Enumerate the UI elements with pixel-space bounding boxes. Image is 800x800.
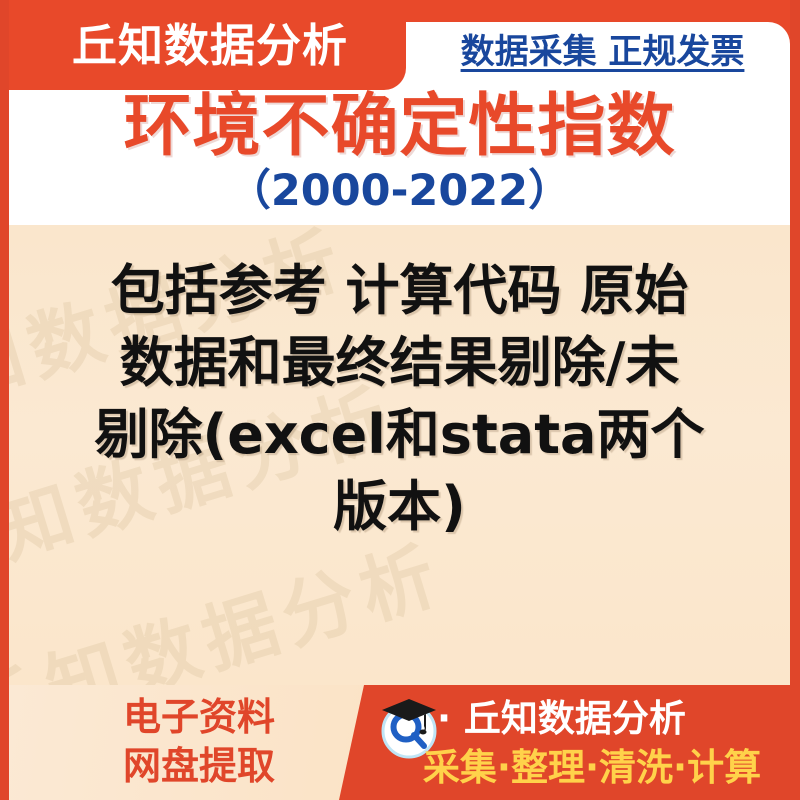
frame-border-left bbox=[0, 0, 9, 800]
description-text: 包括参考 计算代码 原始 数据和最终结果剔除/未 剔除(excel和stata两… bbox=[9, 255, 790, 543]
page-title: 环境不确定性指数 bbox=[9, 90, 790, 163]
poster-canvas: 丘知数据分析 数据采集 正规发票 环境不确定性指数 （2000-2022） 丘知… bbox=[0, 0, 800, 800]
description-line: 数据和最终结果剔除/未 bbox=[23, 327, 776, 399]
brand-tab-label: 丘知数据分析 bbox=[58, 23, 348, 68]
description-line: 剔除(excel和stata两个 bbox=[23, 399, 776, 471]
delivery-info: 电子资料 网盘提取 bbox=[49, 693, 349, 791]
description-line: 包括参考 计算代码 原始 bbox=[23, 255, 776, 327]
header-services-label: 数据采集 正规发票 bbox=[420, 34, 785, 71]
page-subtitle-year-range: （2000-2022） bbox=[9, 168, 790, 215]
footer-band: 电子资料 网盘提取 · 丘知数据分析 采集·整理·清洗·计算 bbox=[9, 685, 790, 800]
footer-tagline: 采集·整理·清洗·计算 bbox=[394, 748, 790, 789]
frame-border-right bbox=[790, 0, 800, 800]
delivery-line-1: 电子资料 bbox=[49, 693, 349, 742]
brand-tab[interactable]: 丘知数据分析 bbox=[0, 0, 406, 90]
description-line: 版本) bbox=[23, 471, 776, 543]
description-panel: 丘知数据分析 丘知数据分析 丘知数据分析 丘知数据分析 包括参考 计算代码 原始… bbox=[9, 225, 790, 685]
footer-brand-name: · 丘知数据分析 bbox=[437, 699, 686, 740]
delivery-line-2: 网盘提取 bbox=[49, 742, 349, 791]
